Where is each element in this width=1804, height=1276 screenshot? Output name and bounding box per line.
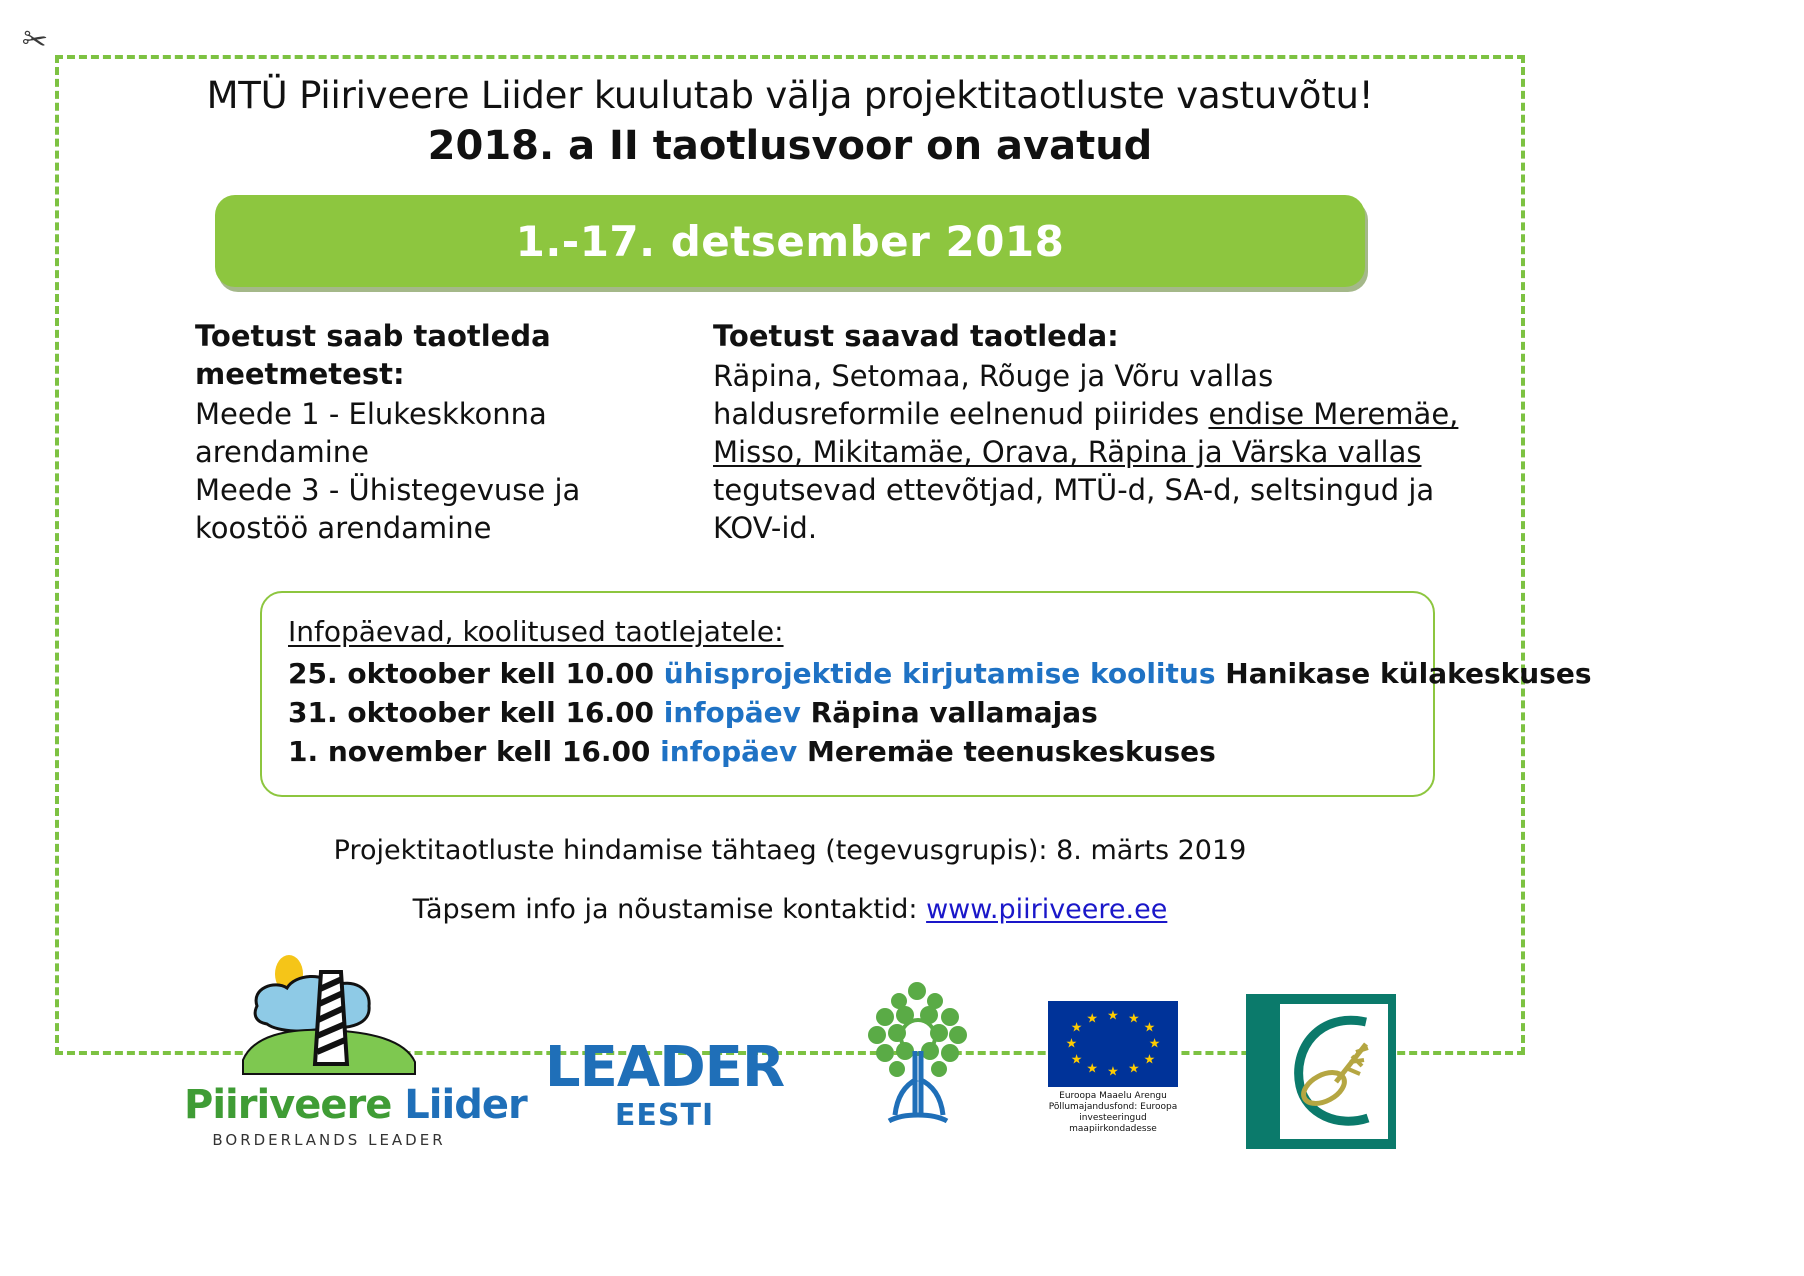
piiriveere-emblem-icon: [229, 944, 429, 1079]
column-applicants-heading: Toetust saavad taotleda:: [713, 317, 1470, 355]
piiriveere-subtitle: BORDERLANDS LEADER: [184, 1131, 474, 1149]
event-row: 31. oktoober kell 16.00 infopäev Räpina …: [288, 693, 1407, 732]
european-union-flag-logo: ★ ★ ★ ★ ★ ★ ★ ★ ★ ★ ★ ★ Euroopa Maaelu A…: [1038, 1001, 1188, 1149]
event-row: 25. oktoober kell 10.00 ühisprojektide k…: [288, 654, 1407, 693]
applicants-text-part2: tegutsevad ettevõtjad, MTÜ-d, SA-d, selt…: [713, 473, 1434, 545]
event-place: Hanikase külakeskuses: [1216, 657, 1592, 690]
applicants-text-part1: Räpina, Setomaa, Rõuge ja Võru vallas ha…: [713, 359, 1273, 431]
event-datetime: 1. november kell 16.00: [288, 735, 660, 768]
date-banner-wrapper: 1.-17. detsember 2018: [85, 195, 1495, 287]
leader-badge-inner: [1280, 1004, 1388, 1139]
contact-label: Täpsem info ja nõustamise kontaktid:: [413, 894, 926, 925]
column-applicants: Toetust saavad taotleda: Räpina, Setomaa…: [695, 317, 1470, 547]
event-type: ühisprojektide kirjutamise koolitus: [664, 657, 1216, 690]
leader-eesti-subtitle: EESTI: [532, 1098, 797, 1133]
column-measures-heading: Toetust saab taotleda meetmetest:: [195, 317, 695, 393]
poster-content: MTÜ Piiriveere Liider kuulutab välja pro…: [55, 55, 1525, 1055]
date-banner-text: 1.-17. detsember 2018: [516, 217, 1065, 266]
info-events-heading: Infopäevad, koolitused taotlejatele:: [288, 615, 1407, 648]
date-banner: 1.-17. detsember 2018: [215, 195, 1365, 287]
event-place: Meremäe teenuskeskuses: [797, 735, 1216, 768]
piiriveere-wordmark: Piiriveere Liider: [184, 1083, 474, 1127]
piiriveere-word2: Liider: [391, 1082, 526, 1128]
event-place: Räpina vallamajas: [801, 696, 1098, 729]
two-column-block: Toetust saab taotleda meetmetest: Meede …: [85, 317, 1495, 547]
column-measures: Toetust saab taotleda meetmetest: Meede …: [195, 317, 695, 547]
leader-eesti-logo: LEADER EESTI: [532, 1040, 797, 1149]
event-row: 1. november kell 16.00 infopäev Meremäe …: [288, 732, 1407, 771]
page-title-line1: MTÜ Piiriveere Liider kuulutab välja pro…: [85, 73, 1495, 119]
evaluation-deadline-text: Projektitaotluste hindamise tähtaeg (teg…: [85, 835, 1495, 866]
contact-line: Täpsem info ja nõustamise kontaktid: www…: [85, 894, 1495, 925]
event-datetime: 31. oktoober kell 16.00: [288, 696, 664, 729]
event-type: infopäev: [660, 735, 797, 768]
info-events-box: Infopäevad, koolitused taotlejatele: 25.…: [260, 591, 1435, 797]
column-applicants-body: Räpina, Setomaa, Rõuge ja Võru vallas ha…: [713, 357, 1470, 547]
page-title-line2: 2018. a II taotlusvoor on avatud: [85, 121, 1495, 171]
logo-strip: Piiriveere Liider BORDERLANDS LEADER LEA…: [85, 949, 1495, 1149]
piiriveere-liider-logo: Piiriveere Liider BORDERLANDS LEADER: [184, 944, 474, 1149]
eu-fund-caption: Euroopa Maaelu Arengu Põllumajandusfond:…: [1038, 1091, 1188, 1135]
leader-badge-logo: LEADER: [1246, 994, 1396, 1149]
scissors-icon: ✂: [19, 24, 50, 59]
event-datetime: 25. oktoober kell 10.00: [288, 657, 664, 690]
event-type: infopäev: [664, 696, 801, 729]
tree-icon: [855, 975, 980, 1135]
wheat-leaf-icon: [1280, 1004, 1380, 1134]
website-link[interactable]: www.piiriveere.ee: [926, 894, 1167, 925]
poster-root: ✂ MTÜ Piiriveere Liider kuulutab välja p…: [0, 0, 1804, 1276]
measure-item-2: Meede 3 - Ühistegevuse ja koostöö arenda…: [195, 471, 695, 547]
piiriveere-word1: Piiriveere: [184, 1082, 391, 1128]
leader-tree-logo: [855, 975, 980, 1149]
measure-item-1: Meede 1 - Elukeskkonna arendamine: [195, 395, 695, 471]
leader-wordmark: LEADER: [532, 1040, 797, 1096]
eu-flag-icon: ★ ★ ★ ★ ★ ★ ★ ★ ★ ★ ★ ★: [1048, 1001, 1178, 1087]
